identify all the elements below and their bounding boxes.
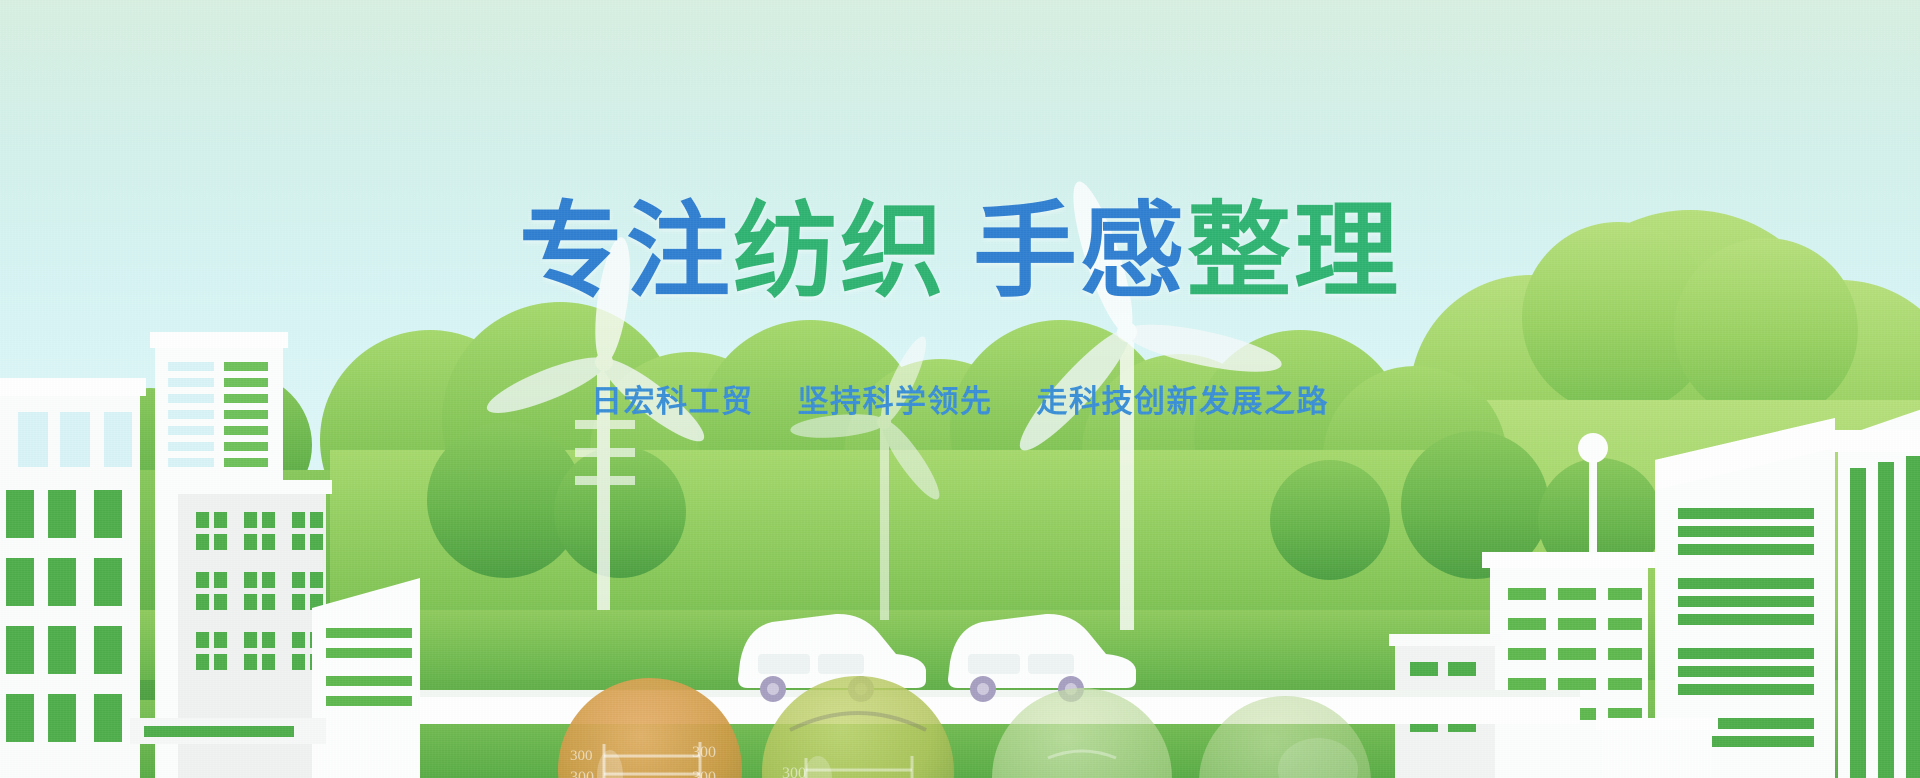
beaker-mark-300-b: 300 (692, 744, 716, 761)
beaker-olive: 300 (762, 676, 954, 778)
beaker-mark-300-d: 300 (692, 769, 716, 778)
beaker-mark-300-c: 300 (570, 769, 594, 778)
beaker-mark-300-e: 300 (782, 765, 806, 778)
beaker-pale-1 (992, 688, 1172, 778)
beaker-orange: 300 300 300 300 (558, 678, 742, 778)
beaker-mark-300-a: 300 (570, 748, 593, 764)
beaker-pale-2 (1199, 696, 1371, 778)
beakers-layer: 300 300 300 300 300 (0, 0, 1920, 778)
hero-banner: 300 300 300 300 300 (0, 0, 1920, 778)
